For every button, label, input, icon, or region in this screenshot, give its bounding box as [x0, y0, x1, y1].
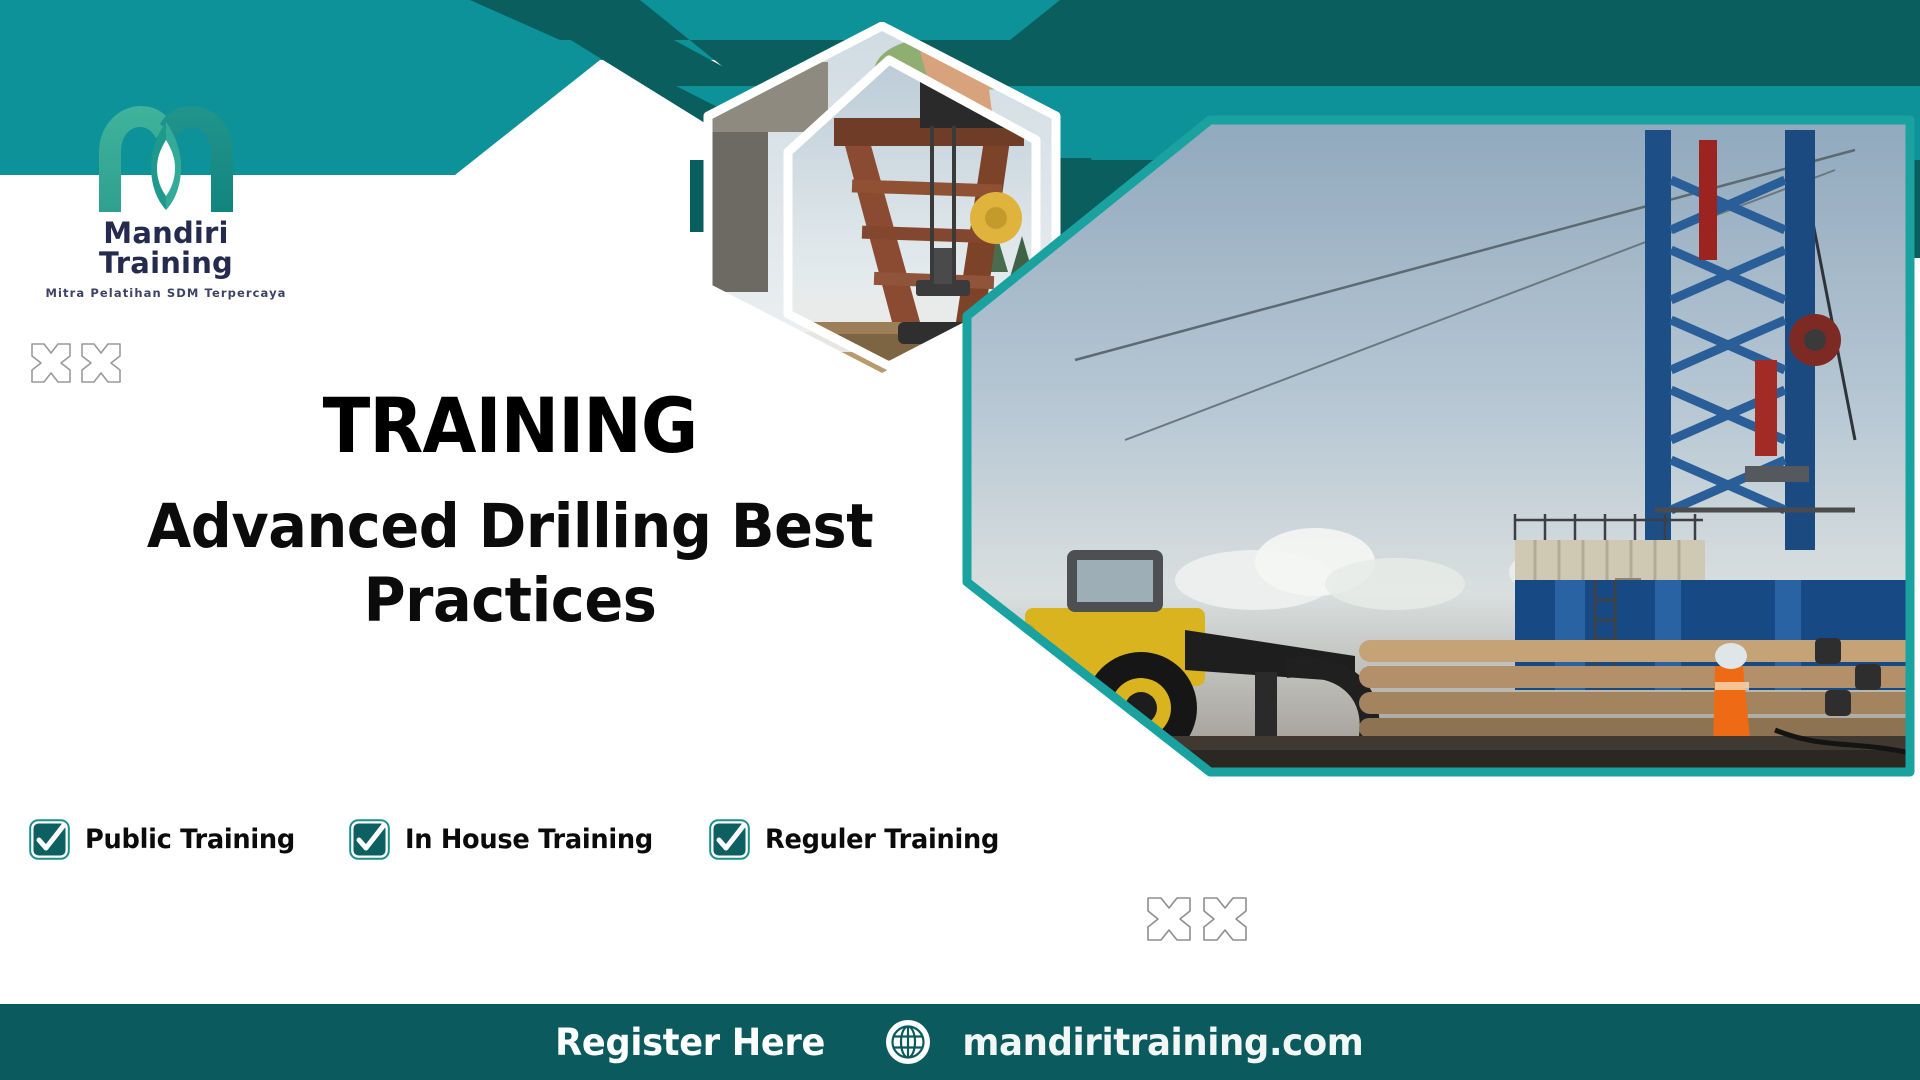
option-label: Public Training [85, 824, 295, 855]
headline-block: TRAINING Advanced Drilling Best Practice… [0, 388, 1020, 639]
globe-icon [884, 1018, 932, 1066]
drilling-rig-hexagon: C956 [955, 110, 1920, 782]
option-label: Reguler Training [765, 824, 999, 855]
page-kicker: TRAINING [41, 388, 979, 464]
brand-name: Mandiri Training [36, 218, 296, 279]
option-label: In House Training [405, 824, 653, 855]
option-in-house-training[interactable]: In House Training [348, 818, 666, 861]
brand-logo: Mandiri Training Mitra Pelatihan SDM Ter… [36, 100, 296, 300]
footer-bar: Register Here mandiritraining.com [0, 1004, 1920, 1080]
brand-tagline: Mitra Pelatihan SDM Terpercaya [36, 286, 296, 300]
teal-block-upper-left [0, 0, 560, 82]
option-reguler-training[interactable]: Reguler Training [708, 818, 1011, 861]
mandiri-m-monogram-icon [91, 100, 241, 212]
page-title: Advanced Drilling Best Practices [31, 490, 990, 639]
flyer-canvas: Mandiri Training Mitra Pelatihan SDM Ter… [0, 0, 1920, 1080]
option-public-training[interactable]: Public Training [28, 818, 306, 861]
checkbox-checked-icon[interactable] [708, 818, 751, 861]
website-url[interactable]: mandiritraining.com [963, 1021, 1364, 1064]
register-cta[interactable]: Register Here [555, 1021, 825, 1064]
website-block[interactable]: mandiritraining.com [884, 1018, 1372, 1066]
checkbox-checked-icon[interactable] [348, 818, 391, 861]
checkbox-checked-icon[interactable] [28, 818, 71, 861]
svg-text:C956: C956 [969, 643, 1025, 667]
x-cross-outline-icon [1140, 890, 1256, 956]
training-options: Public Training In House Training Re [28, 818, 1011, 861]
